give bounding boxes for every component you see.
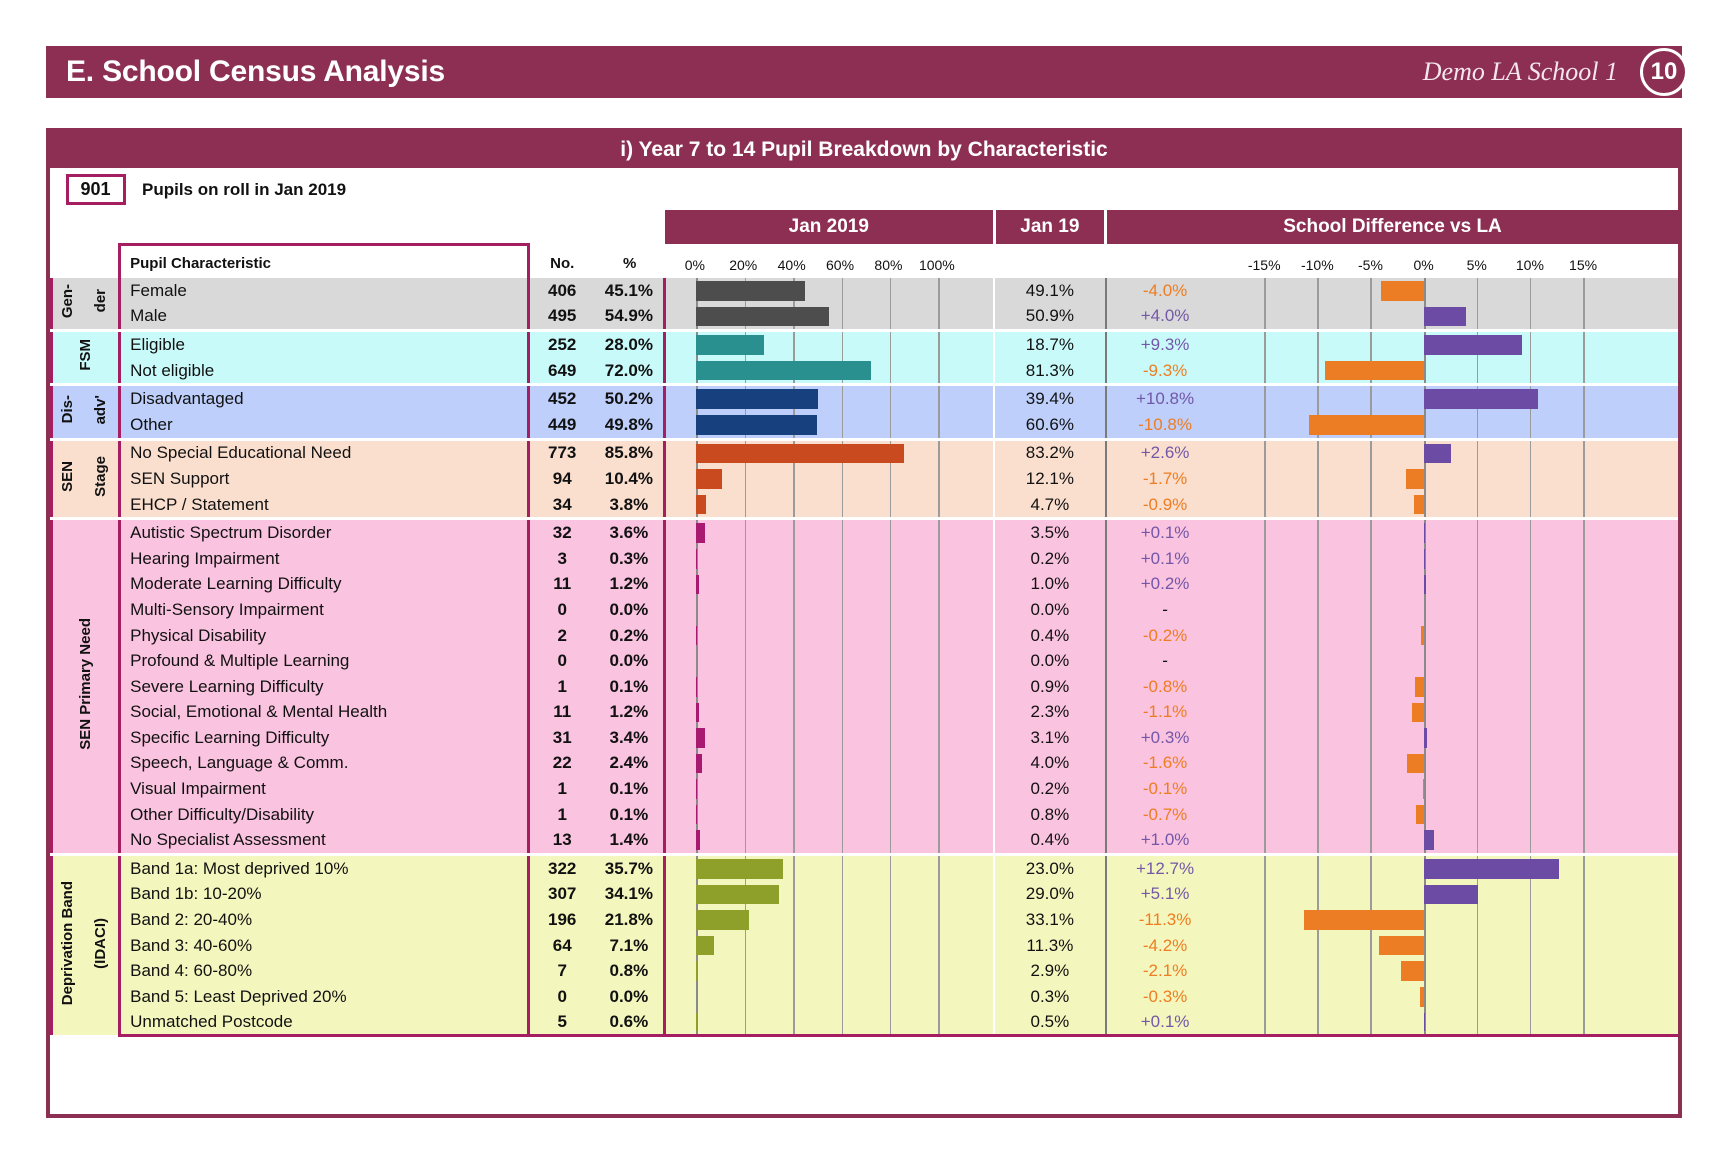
school-bar-cell (665, 1010, 994, 1036)
gridline (842, 1010, 844, 1034)
gridline (1477, 412, 1479, 438)
la-percent: 81.3% (994, 358, 1105, 384)
school-bar-cell (665, 984, 994, 1010)
gridline (793, 882, 795, 908)
gridline (842, 802, 844, 828)
diff-bar (1424, 444, 1452, 464)
diff-value: -1.1% (1106, 700, 1224, 726)
gridline (1583, 278, 1585, 304)
diff-value: +1.0% (1106, 827, 1224, 853)
gridline (1583, 572, 1585, 598)
diff-bar-cell (1224, 907, 1678, 933)
diff-bar-cell (1224, 648, 1678, 674)
gridline (793, 907, 795, 933)
row-percent: 21.8% (594, 907, 664, 933)
gridline (793, 751, 795, 777)
gridline (1477, 623, 1479, 649)
group-label-text: Stage (93, 456, 109, 497)
gridline (938, 492, 940, 518)
diff-bar (1412, 703, 1424, 723)
table-row: Social, Emotional & Mental Health111.2%2… (52, 700, 1679, 726)
gridline (745, 572, 747, 598)
row-percent: 0.6% (594, 1010, 664, 1036)
gridline (1477, 546, 1479, 572)
la-percent: 0.8% (994, 802, 1105, 828)
diff-value: -0.2% (1106, 623, 1224, 649)
gridline (1583, 856, 1585, 882)
diff-value: +9.3% (1106, 332, 1224, 358)
table-row: FSMEligible25228.0%18.7%+9.3% (52, 332, 1679, 358)
diff-bar (1304, 910, 1424, 930)
header-pct: % (594, 244, 664, 278)
gridline (1264, 1010, 1266, 1034)
gridline (1424, 802, 1426, 828)
la-percent: 4.0% (994, 751, 1105, 777)
table-row: Dis-adv'Disadvantaged45250.2%39.4%+10.8% (52, 386, 1679, 412)
gridline (1370, 466, 1372, 492)
gridline (938, 597, 940, 623)
gridline (1424, 648, 1426, 674)
group-label-text: SEN Primary Need (78, 618, 94, 750)
diff-bar-cell (1224, 725, 1678, 751)
gridline (842, 907, 844, 933)
diff-bar (1416, 805, 1423, 825)
row-percent: 1.2% (594, 700, 664, 726)
gridline (1530, 776, 1532, 802)
gridline (745, 597, 747, 623)
gridline (1583, 332, 1585, 358)
gridline (1477, 358, 1479, 384)
gridline (1530, 412, 1532, 438)
diff-bar (1424, 549, 1425, 569)
school-bar-cell (665, 278, 994, 304)
diff-bar-cell (1224, 412, 1678, 438)
diff-value: +0.1% (1106, 546, 1224, 572)
row-percent: 1.4% (594, 827, 664, 853)
gridline (793, 802, 795, 828)
diff-bar-cell (1224, 984, 1678, 1010)
row-count: 11 (529, 572, 595, 598)
row-percent: 2.4% (594, 751, 664, 777)
gridline (1530, 520, 1532, 546)
gridline (1370, 386, 1372, 412)
row-count: 0 (529, 597, 595, 623)
school-axis-tick: 40% (778, 257, 806, 273)
la-percent: 50.9% (994, 304, 1105, 330)
row-count: 64 (529, 933, 595, 959)
row-label: EHCP / Statement (120, 492, 529, 518)
diff-bar-cell (1224, 751, 1678, 777)
gridline (1264, 648, 1266, 674)
gridline (696, 597, 698, 623)
row-count: 1 (529, 802, 595, 828)
school-bar-cell (665, 332, 994, 358)
gridline (793, 572, 795, 598)
gridline (1370, 648, 1372, 674)
gridline (1370, 441, 1372, 467)
table-row: Band 2: 20-40%19621.8%33.1%-11.3% (52, 907, 1679, 933)
table-row: Band 1b: 10-20%30734.1%29.0%+5.1% (52, 882, 1679, 908)
gridline (1370, 882, 1372, 908)
gridline (1530, 358, 1532, 384)
gridline (1264, 725, 1266, 751)
diff-value: -0.8% (1106, 674, 1224, 700)
gridline (1583, 358, 1585, 384)
row-label: Speech, Language & Comm. (120, 751, 529, 777)
gridline (1477, 520, 1479, 546)
row-percent: 0.0% (594, 984, 664, 1010)
diff-bar-cell (1224, 492, 1678, 518)
row-label: Autistic Spectrum Disorder (120, 520, 529, 546)
diff-bar-cell (1224, 958, 1678, 984)
row-count: 22 (529, 751, 595, 777)
row-count: 3 (529, 546, 595, 572)
gridline (1370, 332, 1372, 358)
diff-axis-blank (1106, 244, 1224, 278)
gridline (1317, 597, 1319, 623)
gridline (1264, 597, 1266, 623)
gridline (745, 1010, 747, 1034)
gridline (1370, 546, 1372, 572)
school-bar-cell (665, 412, 994, 438)
gridline (1264, 492, 1266, 518)
gridline (938, 520, 940, 546)
gridline (1477, 674, 1479, 700)
gridline (1264, 546, 1266, 572)
header-no: No. (529, 244, 595, 278)
gridline (1424, 751, 1426, 777)
gridline (1530, 648, 1532, 674)
school-bar-cell (665, 597, 994, 623)
la-percent: 49.1% (994, 278, 1105, 304)
gridline (745, 648, 747, 674)
la-percent: 3.5% (994, 520, 1105, 546)
diff-bar-cell (1224, 520, 1678, 546)
diff-bar (1424, 335, 1523, 355)
school-bar-cell (665, 466, 994, 492)
gridline (890, 572, 892, 598)
gridline (1424, 933, 1426, 959)
diff-bar (1381, 281, 1424, 301)
school-bar-cell (665, 933, 994, 959)
gridline (842, 776, 844, 802)
gridline (1530, 1010, 1532, 1034)
subheader-row: Jan 2019 Jan 19 School Difference vs LA (52, 210, 1679, 244)
school-bar (696, 389, 817, 409)
row-label: Band 1a: Most deprived 10% (120, 856, 529, 882)
gridline (1424, 597, 1426, 623)
row-percent: 35.7% (594, 856, 664, 882)
row-label: Hearing Impairment (120, 546, 529, 572)
school-bar-cell (665, 648, 994, 674)
gridline (1264, 358, 1266, 384)
row-label: Female (120, 278, 529, 304)
diff-bar (1309, 415, 1424, 435)
gridline (1264, 441, 1266, 467)
gridline (745, 700, 747, 726)
group-label-gender-line0: Gen- (52, 278, 84, 329)
school-axis-tick: 60% (826, 257, 854, 273)
diff-value: -0.7% (1106, 802, 1224, 828)
gridline (1317, 1010, 1319, 1034)
gridline (938, 546, 940, 572)
row-label: SEN Support (120, 466, 529, 492)
row-label: Disadvantaged (120, 386, 529, 412)
gridline (1477, 648, 1479, 674)
gridline (1370, 751, 1372, 777)
gridline (696, 802, 698, 828)
gridline (842, 386, 844, 412)
gridline (1317, 933, 1319, 959)
row-percent: 45.1% (594, 278, 664, 304)
gridline (1317, 984, 1319, 1010)
row-count: 322 (529, 856, 595, 882)
table-row: SENStageNo Special Educational Need77385… (52, 441, 1679, 467)
gridline (1264, 958, 1266, 984)
row-label: Specific Learning Difficulty (120, 725, 529, 751)
table-row: Not eligible64972.0%81.3%-9.3% (52, 358, 1679, 384)
gridline (938, 984, 940, 1010)
gridline (938, 856, 940, 882)
gridline (745, 674, 747, 700)
school-bar (696, 859, 782, 879)
gridline (1370, 520, 1372, 546)
gridline (793, 776, 795, 802)
diff-value: +4.0% (1106, 304, 1224, 330)
la-percent: 29.0% (994, 882, 1105, 908)
gridline (1424, 623, 1426, 649)
row-label: Band 1b: 10-20% (120, 882, 529, 908)
gridline (890, 304, 892, 330)
row-percent: 0.3% (594, 546, 664, 572)
gridline (1583, 776, 1585, 802)
row-percent: 85.8% (594, 441, 664, 467)
group-label-text: Gen- (60, 284, 76, 318)
gridline (793, 466, 795, 492)
diff-bar (1415, 677, 1424, 697)
gridline (1264, 674, 1266, 700)
gridline (793, 623, 795, 649)
diff-bar (1424, 389, 1539, 409)
gridline (938, 907, 940, 933)
row-percent: 0.8% (594, 958, 664, 984)
school-bar (696, 281, 805, 301)
table-row: Other Difficulty/Disability10.1%0.8%-0.7… (52, 802, 1679, 828)
gridline (938, 358, 940, 384)
row-label: Band 3: 40-60% (120, 933, 529, 959)
gridline (1583, 933, 1585, 959)
gridline (1530, 466, 1532, 492)
la-percent: 2.9% (994, 958, 1105, 984)
school-bar (696, 961, 698, 981)
gridline (1317, 386, 1319, 412)
row-count: 1 (529, 674, 595, 700)
gridline (1370, 597, 1372, 623)
school-bar-cell (665, 907, 994, 933)
gridline (842, 725, 844, 751)
row-label: Band 5: Least Deprived 20% (120, 984, 529, 1010)
header-sub-school: Jan 2019 (665, 210, 994, 244)
row-count: 0 (529, 648, 595, 674)
diff-bar (1379, 936, 1424, 956)
gridline (842, 648, 844, 674)
row-count: 1 (529, 776, 595, 802)
row-percent: 49.8% (594, 412, 664, 438)
row-percent: 1.2% (594, 572, 664, 598)
gridline (1370, 572, 1372, 598)
gridline (1583, 802, 1585, 828)
gridline (890, 907, 892, 933)
gridline (938, 700, 940, 726)
gridline (1477, 572, 1479, 598)
gridline (1317, 520, 1319, 546)
header-group-la: LA (Secondary schools) (994, 168, 1678, 210)
gridline (890, 725, 892, 751)
gridline (1477, 304, 1479, 330)
gridline (842, 278, 844, 304)
la-percent: 0.2% (994, 546, 1105, 572)
school-bar-cell (665, 751, 994, 777)
school-bar (696, 575, 699, 595)
diff-axis-tick: 10% (1516, 257, 1544, 273)
gridline (1583, 827, 1585, 853)
gridline (890, 597, 892, 623)
row-percent: 34.1% (594, 882, 664, 908)
gridline (1530, 597, 1532, 623)
table-row: Unmatched Postcode50.6%0.5%+0.1% (52, 1010, 1679, 1036)
school-name: Demo LA School 1 (1423, 57, 1640, 87)
gridline (890, 827, 892, 853)
gridline (890, 776, 892, 802)
gridline (938, 386, 940, 412)
gridline (890, 984, 892, 1010)
school-bar-cell (665, 856, 994, 882)
gridline (1530, 304, 1532, 330)
gridline (1264, 278, 1266, 304)
diff-value: -1.7% (1106, 466, 1224, 492)
gridline (1264, 907, 1266, 933)
diff-axis-tick: 5% (1467, 257, 1487, 273)
diff-axis-tick: -5% (1358, 257, 1383, 273)
row-label: Eligible (120, 332, 529, 358)
table-row: Other44949.8%60.6%-10.8% (52, 412, 1679, 438)
table-row: SEN Primary NeedAutistic Spectrum Disord… (52, 520, 1679, 546)
school-bar (696, 754, 702, 774)
diff-value: +0.3% (1106, 725, 1224, 751)
school-bar-cell (665, 882, 994, 908)
diff-value: -9.3% (1106, 358, 1224, 384)
diff-axis-tick: -15% (1248, 257, 1281, 273)
row-percent: 54.9% (594, 304, 664, 330)
gridline (1477, 827, 1479, 853)
gridline (1530, 827, 1532, 853)
diff-bar (1401, 961, 1423, 981)
diff-bar-cell (1224, 278, 1678, 304)
row-percent: 28.0% (594, 332, 664, 358)
gridline (1477, 597, 1479, 623)
la-percent: 3.1% (994, 725, 1105, 751)
row-percent: 0.1% (594, 776, 664, 802)
diff-value: -0.3% (1106, 984, 1224, 1010)
gridline (1424, 776, 1426, 802)
gridline (938, 441, 940, 467)
gridline (938, 882, 940, 908)
gridline (793, 933, 795, 959)
table-row: Visual Impairment10.1%0.2%-0.1% (52, 776, 1679, 802)
gridline (1583, 623, 1585, 649)
gridline (745, 827, 747, 853)
gridline (1317, 332, 1319, 358)
diff-axis-tick: 0% (1414, 257, 1434, 273)
gridline (1583, 386, 1585, 412)
la-percent: 0.4% (994, 827, 1105, 853)
school-bar (696, 335, 764, 355)
row-label: Other Difficulty/Disability (120, 802, 529, 828)
table-row: Hearing Impairment30.3%0.2%+0.1% (52, 546, 1679, 572)
school-bar (696, 936, 713, 956)
pupil-breakdown-table: 901 Pupils on roll in Jan 2019 School LA… (50, 168, 1678, 1037)
table-row: Band 4: 60-80%70.8%2.9%-2.1% (52, 958, 1679, 984)
gridline (1264, 984, 1266, 1010)
school-bar-cell (665, 441, 994, 467)
gridline (1583, 984, 1585, 1010)
gridline (890, 933, 892, 959)
la-percent: 2.3% (994, 700, 1105, 726)
diff-bar (1423, 779, 1424, 799)
gridline (938, 776, 940, 802)
diff-value: +2.6% (1106, 441, 1224, 467)
row-percent: 0.0% (594, 648, 664, 674)
gridline (793, 492, 795, 518)
gridline (1370, 674, 1372, 700)
la-axis-blank (994, 244, 1105, 278)
gridline (793, 700, 795, 726)
diff-bar-cell (1224, 597, 1678, 623)
gridline (1477, 751, 1479, 777)
school-bar (696, 549, 697, 569)
gridline (1264, 933, 1266, 959)
diff-bar (1424, 523, 1425, 543)
row-count: 0 (529, 984, 595, 1010)
gridline (1424, 492, 1426, 518)
row-count: 449 (529, 412, 595, 438)
school-bar-cell (665, 304, 994, 330)
la-percent: 60.6% (994, 412, 1105, 438)
group-label-disadv-line0: Dis- (52, 386, 84, 437)
diff-bar-cell (1224, 933, 1678, 959)
school-bar-cell (665, 492, 994, 518)
diff-value: -4.0% (1106, 278, 1224, 304)
gridline (1317, 278, 1319, 304)
school-bar-cell (665, 827, 994, 853)
row-percent: 0.0% (594, 597, 664, 623)
gridline (1370, 725, 1372, 751)
on-roll-label: Pupils on roll in Jan 2019 (130, 180, 346, 199)
la-percent: 1.0% (994, 572, 1105, 598)
diff-bar-cell (1224, 700, 1678, 726)
gridline (1424, 358, 1426, 384)
table-row: Specific Learning Difficulty313.4%3.1%+0… (52, 725, 1679, 751)
gridline (890, 412, 892, 438)
la-percent: 0.4% (994, 623, 1105, 649)
diff-value: +0.2% (1106, 572, 1224, 598)
diff-bar (1424, 830, 1435, 850)
la-percent: 0.9% (994, 674, 1105, 700)
gridline (1424, 907, 1426, 933)
group-label-text: Dis- (60, 395, 76, 423)
gridline (1530, 441, 1532, 467)
diff-bar (1424, 885, 1478, 905)
